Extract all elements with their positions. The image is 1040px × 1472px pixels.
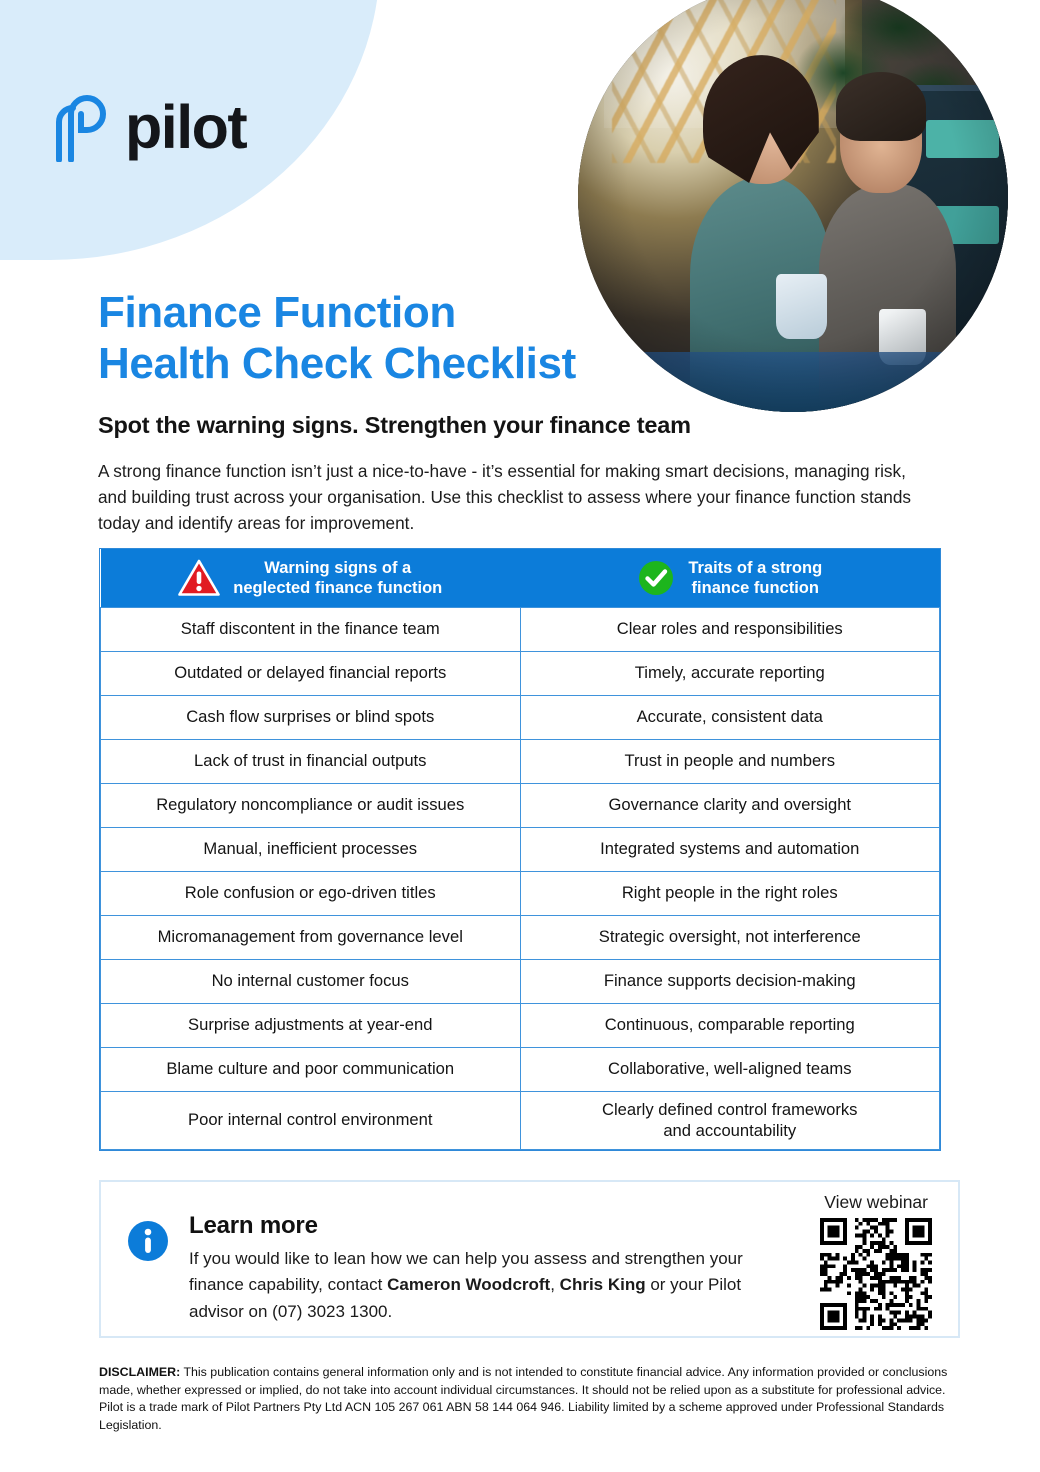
pilot-p-mark-icon [49, 92, 111, 162]
checklist-row: Blame culture and poor communicationColl… [101, 1047, 940, 1091]
disclaimer: DISCLAIMER: This publication contains ge… [99, 1364, 957, 1434]
checklist-cell-warning: Lack of trust in financial outputs [101, 739, 521, 783]
checklist-table: Warning signs of a neglected finance fun… [99, 548, 941, 1151]
checklist-cell-trait: Clearly defined control frameworks and a… [520, 1091, 940, 1149]
learn-more-title: Learn more [189, 1212, 318, 1240]
checklist-cell-warning: Outdated or delayed financial reports [101, 651, 521, 695]
checklist-row: Cash flow surprises or blind spotsAccura… [101, 695, 940, 739]
checklist-cell-warning: Blame culture and poor communication [101, 1047, 521, 1091]
checklist-row: Surprise adjustments at year-endContinuo… [101, 1003, 940, 1047]
checklist-cell-warning: Micromanagement from governance level [101, 915, 521, 959]
checklist-cell-warning: Regulatory noncompliance or audit issues [101, 783, 521, 827]
contact-cameron-woodcroft[interactable]: Cameron Woodcroft [387, 1275, 550, 1294]
checklist-cell-trait: Governance clarity and oversight [520, 783, 940, 827]
checklist-row: Regulatory noncompliance or audit issues… [101, 783, 940, 827]
learn-more-text-2: , [550, 1275, 559, 1294]
view-webinar-label: View webinar [824, 1192, 928, 1213]
disclaimer-text: This publication contains general inform… [99, 1365, 947, 1432]
checklist-cell-warning: Staff discontent in the finance team [101, 607, 521, 651]
checklist-cell-trait: Collaborative, well-aligned teams [520, 1047, 940, 1091]
checklist-cell-warning: Poor internal control environment [101, 1091, 521, 1149]
checklist-cell-trait: Accurate, consistent data [520, 695, 940, 739]
checklist-cell-trait: Trust in people and numbers [520, 739, 940, 783]
checklist-cell-trait: Strategic oversight, not interference [520, 915, 940, 959]
checklist-cell-warning: Manual, inefficient processes [101, 827, 521, 871]
disclaimer-label: DISCLAIMER: [99, 1365, 180, 1379]
brand-logo-wordmark: pilot [125, 97, 246, 158]
checklist-cell-warning: Role confusion or ego-driven titles [101, 871, 521, 915]
checklist-cell-trait: Right people in the right roles [520, 871, 940, 915]
checklist-row: Manual, inefficient processesIntegrated … [101, 827, 940, 871]
warning-triangle-icon [178, 559, 220, 597]
checklist-row: Role confusion or ego-driven titlesRight… [101, 871, 940, 915]
intro-paragraph: A strong finance function isn’t just a n… [98, 458, 916, 536]
checklist-cell-warning: Cash flow surprises or blind spots [101, 695, 521, 739]
checklist-cell-trait: Continuous, comparable reporting [520, 1003, 940, 1047]
checklist-cell-trait: Clear roles and responsibilities [520, 607, 940, 651]
checklist-header-warning-label: Warning signs of a neglected finance fun… [233, 558, 442, 598]
checklist-cell-warning: Surprise adjustments at year-end [101, 1003, 521, 1047]
hero-photo [578, 0, 1008, 412]
checklist-row: Outdated or delayed financial reportsTim… [101, 651, 940, 695]
page-subtitle: Spot the warning signs. Strengthen your … [98, 412, 691, 439]
checklist-cell-warning: No internal customer focus [101, 959, 521, 1003]
learn-more-body: If you would like to lean how we can hel… [189, 1246, 789, 1325]
page-title: Finance Function Health Check Checklist [98, 287, 576, 389]
checklist-cell-trait: Finance supports decision-making [520, 959, 940, 1003]
checklist-row: Poor internal control environmentClearly… [101, 1091, 940, 1149]
hero-photo-vignette [578, 0, 1008, 412]
checklist-cell-trait: Integrated systems and automation [520, 827, 940, 871]
checklist-row: Staff discontent in the finance teamClea… [101, 607, 940, 651]
checklist-row: No internal customer focusFinance suppor… [101, 959, 940, 1003]
checklist-row: Lack of trust in financial outputsTrust … [101, 739, 940, 783]
checklist-header-trait-label: Traits of a strong finance function [688, 558, 822, 598]
checklist-header-row: Warning signs of a neglected finance fun… [101, 549, 940, 607]
checklist-header-trait: Traits of a strong finance function [520, 549, 940, 607]
checklist-header-warning: Warning signs of a neglected finance fun… [101, 549, 521, 607]
contact-chris-king[interactable]: Chris King [560, 1275, 646, 1294]
checklist-cell-trait: Timely, accurate reporting [520, 651, 940, 695]
checklist-row: Micromanagement from governance levelStr… [101, 915, 940, 959]
brand-logo: pilot [49, 92, 246, 162]
green-check-circle-icon [637, 559, 675, 597]
learn-more-panel: Learn more If you would like to lean how… [99, 1180, 960, 1338]
qr-code-icon[interactable] [820, 1218, 932, 1330]
